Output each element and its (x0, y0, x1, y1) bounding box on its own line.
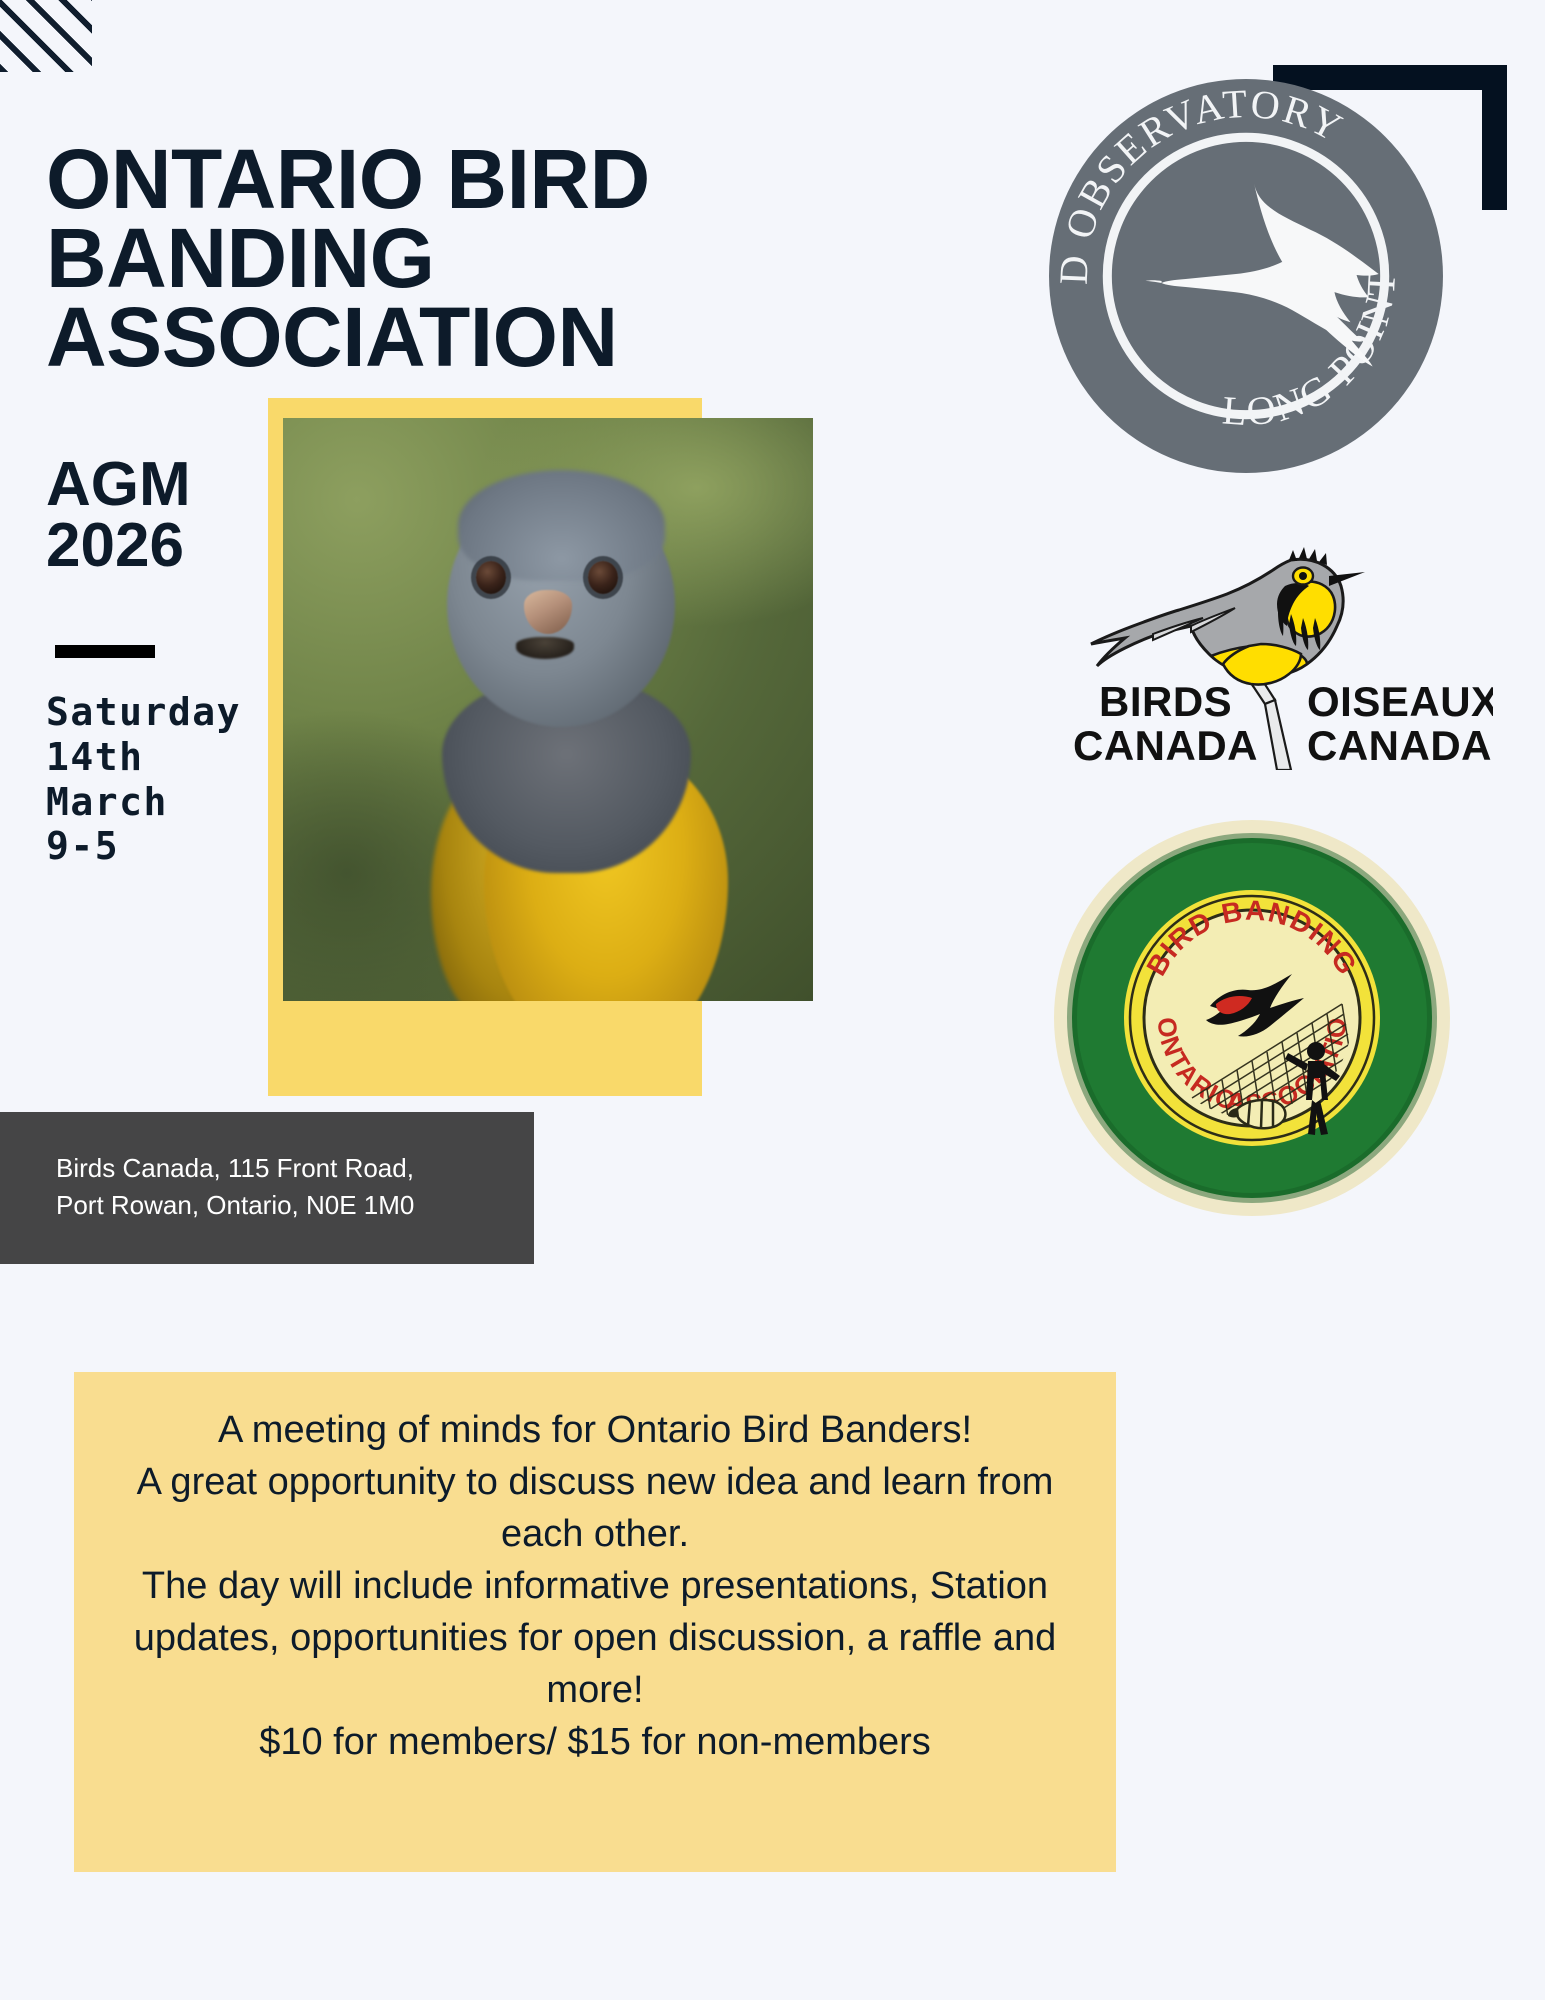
long-point-bird-observatory-logo: BIRD OBSERVATORY LONG POINT (1045, 75, 1447, 477)
oiseaux-canada-label-line1: OISEAUX (1307, 678, 1493, 725)
date-day: Saturday (46, 690, 241, 735)
oiseaux-canada-label-line2: CANADA (1307, 722, 1492, 769)
date-date: 14th (46, 735, 241, 780)
date-hours: 9-5 (46, 824, 241, 869)
info-line-4: $10 for members/ $15 for non-members (96, 1716, 1094, 1768)
lpbo-seal-icon: BIRD OBSERVATORY LONG POINT (1045, 75, 1447, 477)
title-line-1: ONTARIO BIRD (46, 140, 876, 219)
info-line-2: A great opportunity to discuss new idea … (96, 1456, 1094, 1560)
birds-canada-icon: BIRDS CANADA OISEAUX CANADA (1053, 528, 1493, 770)
bird-photo (283, 418, 813, 1001)
venue-address: Birds Canada, 115 Front Road, Port Rowan… (0, 1112, 534, 1264)
title-line-3: ASSOCIATION (46, 298, 876, 377)
birds-canada-label-line1: BIRDS (1099, 678, 1232, 725)
info-line-3: The day will include informative present… (96, 1560, 1094, 1716)
title-line-2: BANDING (46, 219, 876, 298)
page-title: ONTARIO BIRD BANDING ASSOCIATION (46, 140, 876, 377)
event-subtitle: AGM 2026 (46, 455, 191, 577)
diagonal-hatch-decoration (0, 0, 92, 72)
address-line-2: Port Rowan, Ontario, N0E 1M0 (56, 1187, 534, 1224)
event-date-block: Saturday 14th March 9-5 (46, 690, 241, 869)
birds-canada-logo: BIRDS CANADA OISEAUX CANADA (1053, 528, 1493, 770)
date-month: March (46, 780, 241, 825)
bird-beak-shadow (516, 637, 574, 659)
event-description-box: A meeting of minds for Ontario Bird Band… (74, 1372, 1116, 1872)
subtitle-year: 2026 (46, 516, 191, 577)
bird-eye-right (588, 561, 618, 594)
ontario-bird-banding-association-logo: BIRD BANDING ONTARIO ASSOCIATION (1042, 808, 1462, 1228)
subtitle-agm: AGM (46, 455, 191, 516)
info-line-1: A meeting of minds for Ontario Bird Band… (96, 1404, 1094, 1456)
title-divider-rule (55, 645, 155, 658)
birds-canada-label-line2: CANADA (1073, 722, 1258, 769)
address-line-1: Birds Canada, 115 Front Road, (56, 1150, 534, 1187)
obba-seal-icon: BIRD BANDING ONTARIO ASSOCIATION (1042, 808, 1462, 1228)
poster-canvas: ONTARIO BIRD BANDING ASSOCIATION AGM 202… (0, 0, 1545, 2000)
